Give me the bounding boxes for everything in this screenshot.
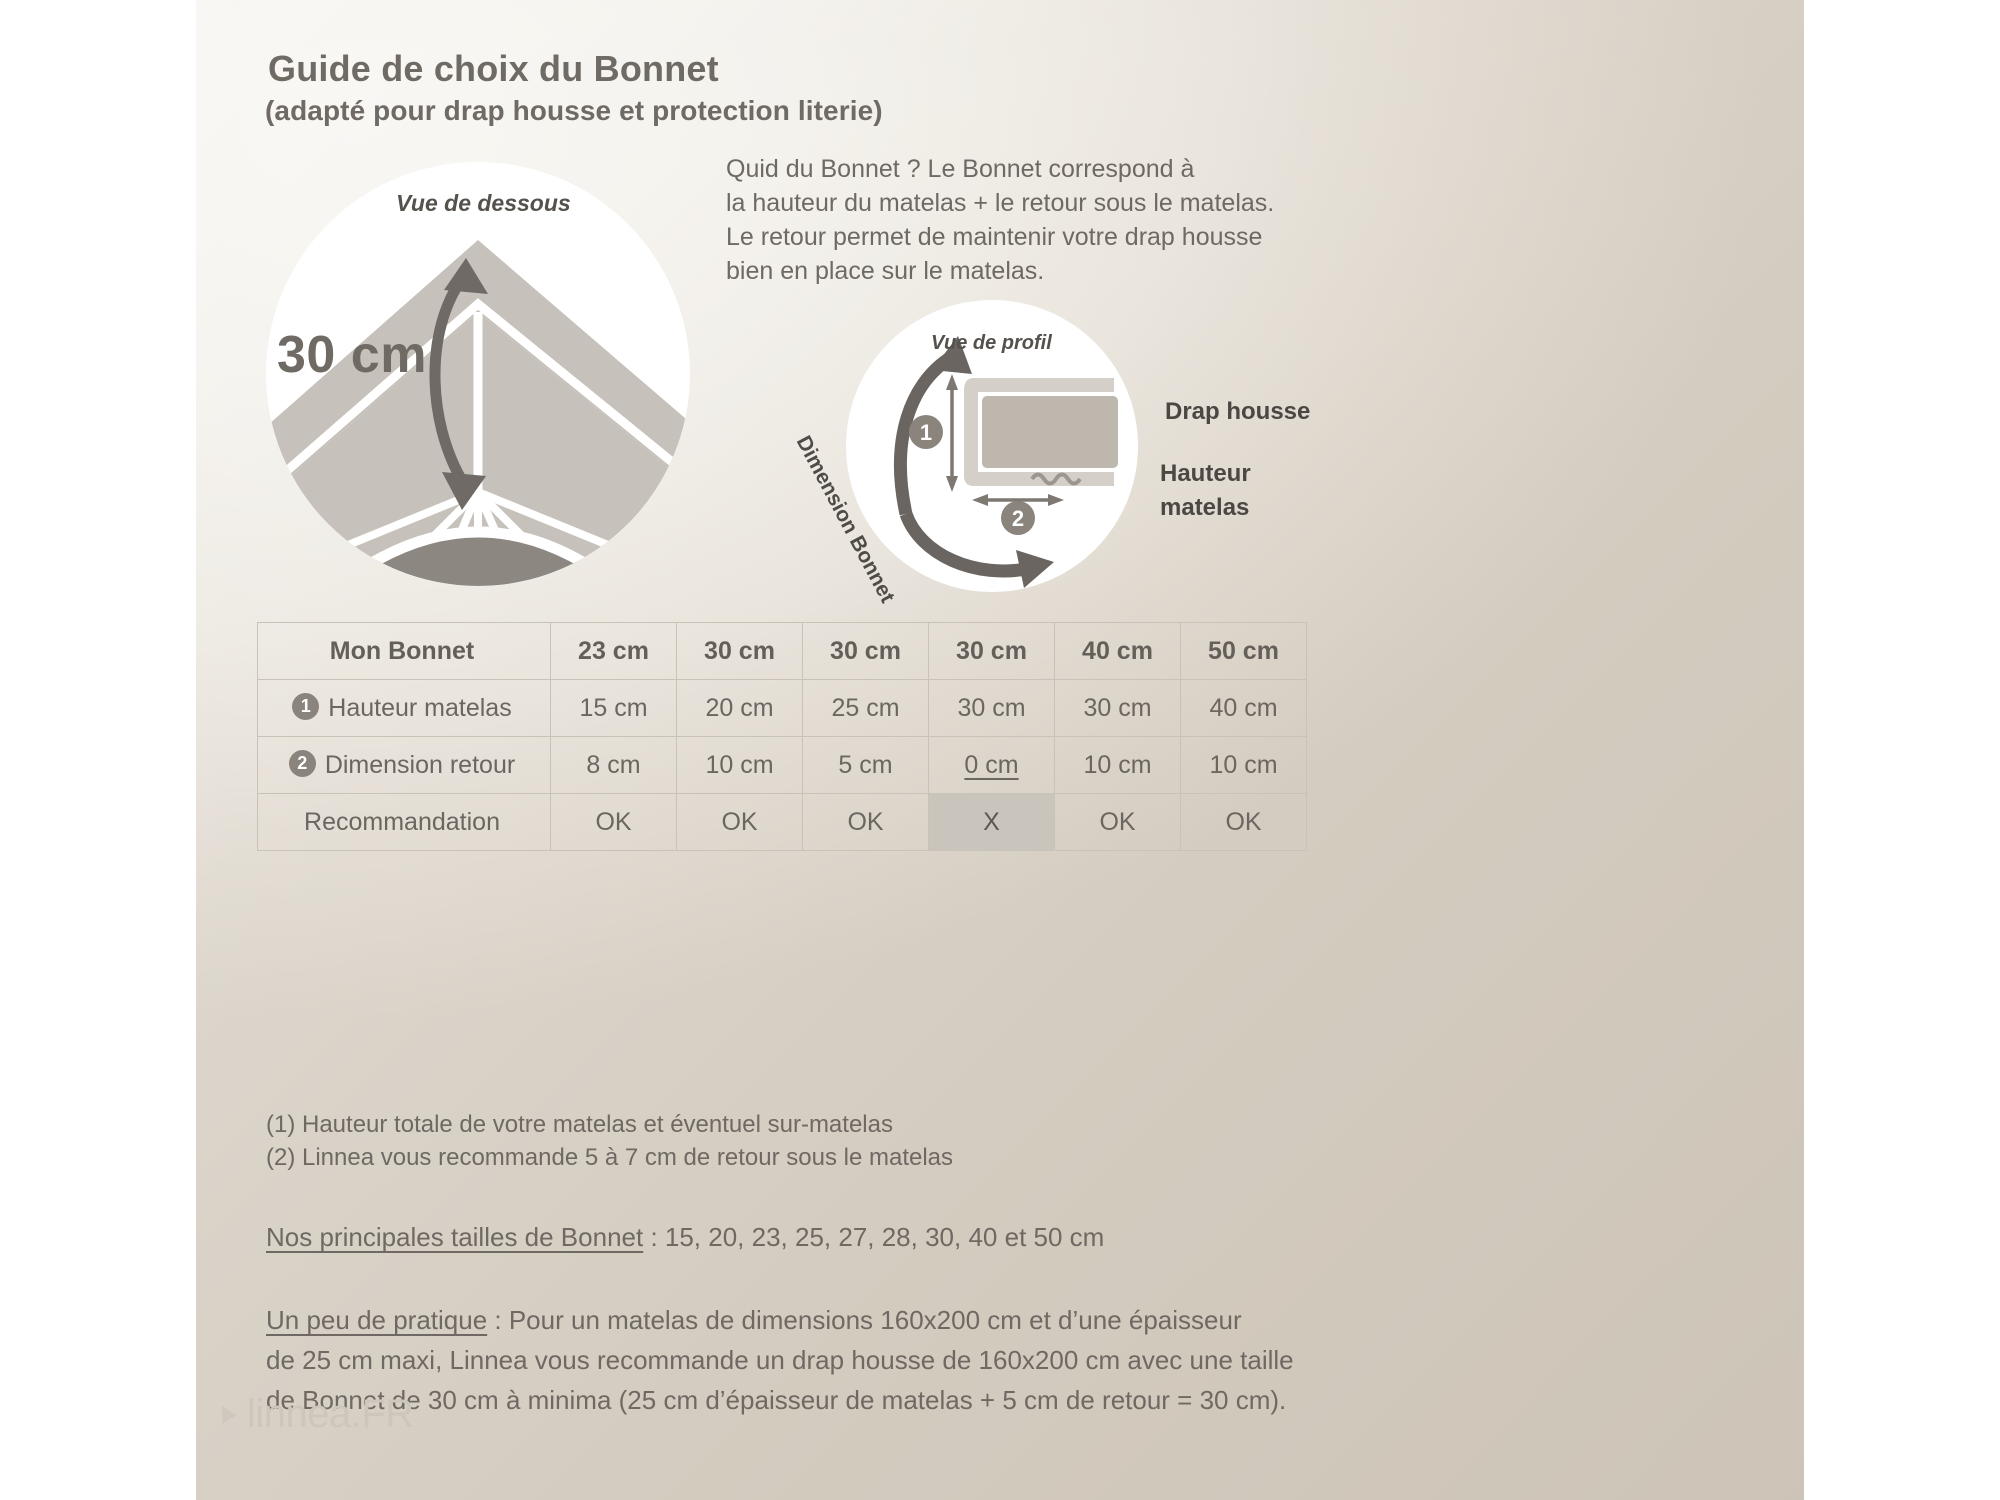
sizes-line: Nos principales tailles de Bonnet : 15, … bbox=[266, 1222, 1104, 1253]
svg-text:1: 1 bbox=[920, 420, 932, 445]
practice-paragraph: Un peu de pratique : Pour un matelas de … bbox=[266, 1300, 1326, 1420]
cell-reco-4: OK bbox=[1055, 794, 1181, 851]
intro-line-1: Quid du Bonnet ? Le Bonnet correspond à bbox=[726, 152, 1326, 186]
label-hauteur-matelas-line2: matelas bbox=[1160, 494, 1249, 522]
badge-2-icon: 2 bbox=[289, 750, 316, 777]
cell-reco-0: OK bbox=[551, 794, 677, 851]
row-label-hauteur-matelas: 1Hauteur matelas bbox=[258, 680, 551, 737]
page-subtitle: (adapté pour drap housse et protection l… bbox=[265, 95, 883, 127]
footnote-2: (2) Linnea vous recommande 5 à 7 cm de r… bbox=[266, 1141, 953, 1174]
cell-hauteur-0: 15 cm bbox=[551, 680, 677, 737]
practice-line-1-text: : Pour un matelas de dimensions 160x200 … bbox=[487, 1305, 1241, 1335]
bonnet-comparison-table: Mon Bonnet 23 cm 30 cm 30 cm 30 cm 40 cm… bbox=[257, 622, 1307, 851]
cell-reco-2: OK bbox=[803, 794, 929, 851]
row-label-dimension-retour: 2Dimension retour bbox=[258, 737, 551, 794]
logo-wordmark: linnea.FR bbox=[247, 1392, 414, 1437]
cell-retour-3: 0 cm bbox=[929, 737, 1055, 794]
cell-reco-3: X bbox=[929, 794, 1055, 851]
cell-bonnet-2: 30 cm bbox=[803, 623, 929, 680]
cell-retour-4: 10 cm bbox=[1055, 737, 1181, 794]
row-label-bonnet: Mon Bonnet bbox=[258, 623, 551, 680]
practice-line-2: de 25 cm maxi, Linnea vous recommande un… bbox=[266, 1340, 1326, 1380]
practice-line-1: Un peu de pratique : Pour un matelas de … bbox=[266, 1300, 1326, 1340]
linnea-logo: linnea.FR bbox=[222, 1392, 414, 1437]
badge-1-icon: 1 bbox=[292, 693, 319, 720]
cell-retour-0: 8 cm bbox=[551, 737, 677, 794]
svg-text:2: 2 bbox=[1012, 506, 1024, 531]
cell-bonnet-4: 40 cm bbox=[1055, 623, 1181, 680]
footnote-1: (1) Hauteur totale de votre matelas et é… bbox=[266, 1108, 953, 1141]
page-title: Guide de choix du Bonnet bbox=[268, 48, 719, 90]
table-row-recommandation: Recommandation OK OK OK X OK OK bbox=[258, 794, 1307, 851]
cell-bonnet-0: 23 cm bbox=[551, 623, 677, 680]
canvas-left-margin bbox=[0, 0, 196, 1500]
infographic-canvas: Vue de dessous 30 cm bbox=[0, 0, 2000, 1500]
badge-1: 1 bbox=[909, 415, 943, 449]
canvas-right-margin bbox=[1804, 0, 2000, 1500]
table-row-hauteur-matelas: 1Hauteur matelas 15 cm 20 cm 25 cm 30 cm… bbox=[258, 680, 1307, 737]
label-drap-housse: Drap housse bbox=[1165, 398, 1310, 426]
label-hauteur-matelas-line1: Hauteur bbox=[1160, 460, 1251, 488]
row-label-hauteur-text: Hauteur matelas bbox=[328, 694, 511, 722]
height-measure-arrow bbox=[946, 374, 958, 492]
intro-line-3: Le retour permet de maintenir votre drap… bbox=[726, 220, 1326, 254]
cell-reco-1: OK bbox=[677, 794, 803, 851]
cell-hauteur-5: 40 cm bbox=[1181, 680, 1307, 737]
logo-triangle-icon bbox=[222, 1406, 237, 1424]
practice-line-3: de Bonnet de 30 cm à minima (25 cm d’épa… bbox=[266, 1380, 1326, 1420]
intro-line-2: la hauteur du matelas + le retour sous l… bbox=[726, 186, 1326, 220]
row-label-recommandation: Recommandation bbox=[258, 794, 551, 851]
footnotes: (1) Hauteur totale de votre matelas et é… bbox=[266, 1108, 953, 1174]
profile-view-caption: Vue de profil bbox=[931, 332, 1052, 355]
sizes-label: Nos principales tailles de Bonnet bbox=[266, 1222, 643, 1252]
cell-retour-5: 10 cm bbox=[1181, 737, 1307, 794]
cell-bonnet-1: 30 cm bbox=[677, 623, 803, 680]
table-row-dimension-retour: 2Dimension retour 8 cm 10 cm 5 cm 0 cm 1… bbox=[258, 737, 1307, 794]
cell-reco-5: OK bbox=[1181, 794, 1307, 851]
row-label-retour-text: Dimension retour bbox=[325, 751, 515, 779]
intro-line-4: bien en place sur le matelas. bbox=[726, 254, 1326, 288]
practice-label: Un peu de pratique bbox=[266, 1305, 487, 1335]
cell-retour-1: 10 cm bbox=[677, 737, 803, 794]
cell-hauteur-1: 20 cm bbox=[677, 680, 803, 737]
cell-bonnet-5: 50 cm bbox=[1181, 623, 1307, 680]
cell-retour-2: 5 cm bbox=[803, 737, 929, 794]
cell-bonnet-3: 30 cm bbox=[929, 623, 1055, 680]
bottom-view-caption: Vue de dessous bbox=[396, 190, 571, 217]
cell-hauteur-3: 30 cm bbox=[929, 680, 1055, 737]
sizes-values: : 15, 20, 23, 25, 27, 28, 30, 40 et 50 c… bbox=[643, 1222, 1104, 1252]
table-row-header: Mon Bonnet 23 cm 30 cm 30 cm 30 cm 40 cm… bbox=[258, 623, 1307, 680]
bonnet-value-label: 30 cm bbox=[277, 325, 427, 385]
badge-2: 2 bbox=[1001, 501, 1035, 535]
cell-hauteur-4: 30 cm bbox=[1055, 680, 1181, 737]
intro-paragraph: Quid du Bonnet ? Le Bonnet correspond à … bbox=[726, 152, 1326, 288]
cell-hauteur-2: 25 cm bbox=[803, 680, 929, 737]
